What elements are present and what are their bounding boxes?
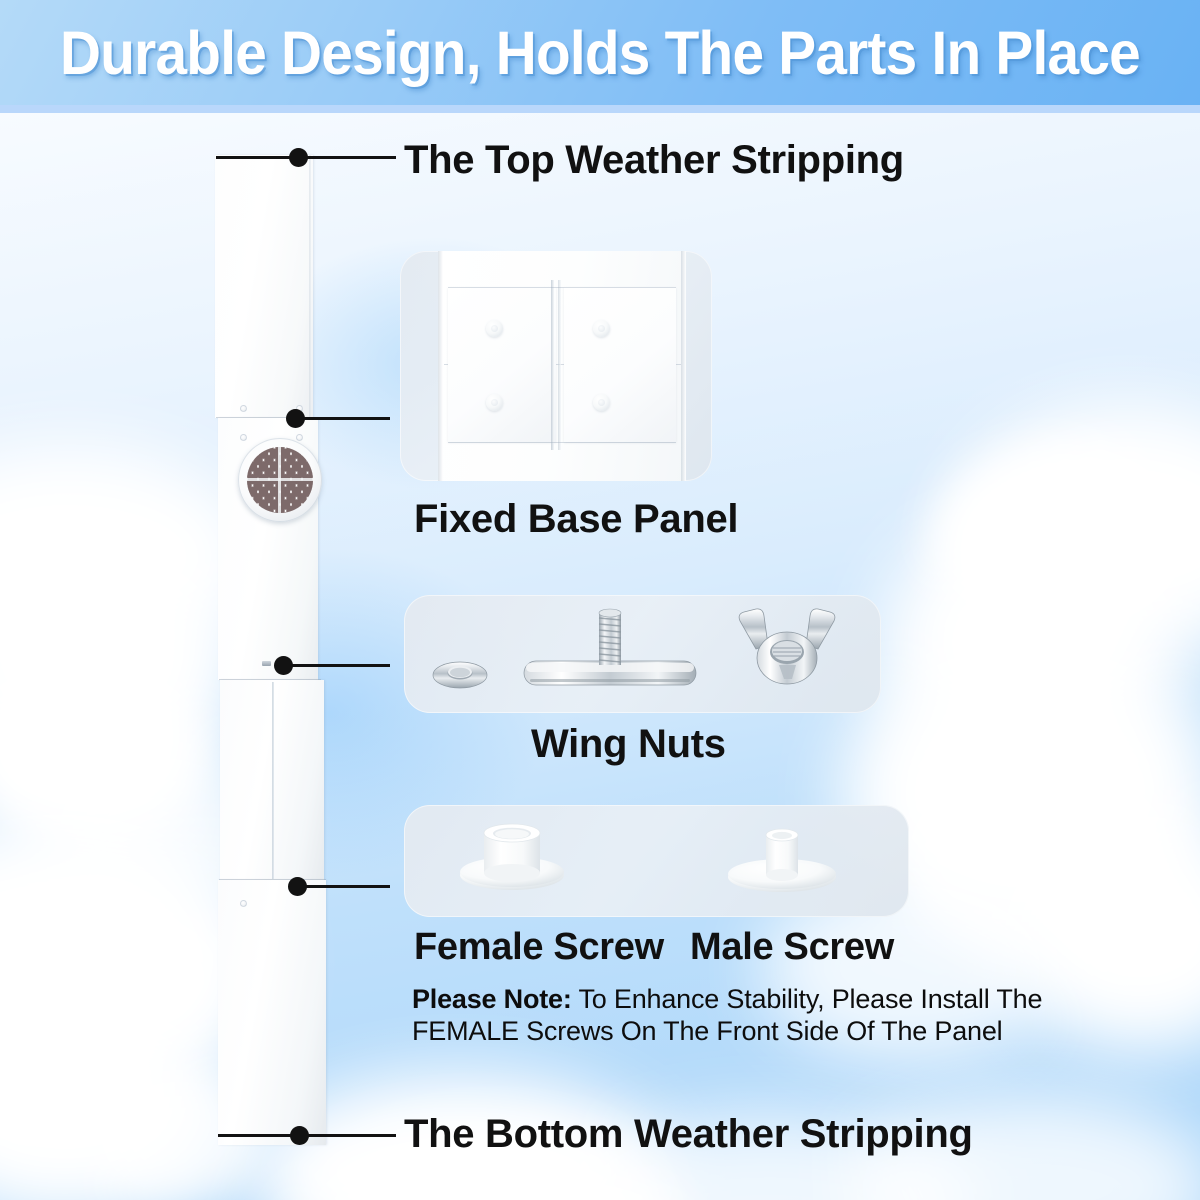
- callout-line-screws: [298, 885, 390, 888]
- panel-plate-right: [564, 287, 676, 442]
- male-screw: [728, 829, 836, 892]
- panel-screw-cap: [296, 434, 303, 441]
- honeycomb-vent: [238, 438, 322, 522]
- panel-screw-cap: [240, 434, 247, 441]
- panel-edge: [681, 251, 686, 481]
- t-bolt: [524, 609, 696, 685]
- screw-cap: [593, 320, 610, 337]
- card-title-fixed-base-panel: Fixed Base Panel: [414, 497, 738, 542]
- callout-label-top-stripping: The Top Weather Stripping: [404, 138, 904, 183]
- card-title-wing-nuts: Wing Nuts: [531, 722, 726, 767]
- panel-line: [448, 287, 676, 288]
- female-screw: [460, 824, 564, 890]
- callout-label-bottom-stripping: The Bottom Weather Stripping: [404, 1112, 973, 1157]
- screw-cap: [593, 394, 610, 411]
- center-seam: [558, 280, 561, 450]
- fixed-base-panel-photo: [438, 251, 686, 481]
- panel-screw-cap: [240, 405, 247, 412]
- header-band: Durable Design, Holds The Parts In Place: [0, 0, 1200, 105]
- panel-seam: [272, 682, 274, 879]
- panel-plate-left: [448, 287, 556, 442]
- panel-seam: [219, 679, 321, 680]
- panel-segment-top: [215, 155, 313, 418]
- header-underline: [0, 105, 1200, 113]
- please-note-text: Please Note: To Enhance Stability, Pleas…: [412, 983, 1112, 1047]
- callout-dot-fixed-base-panel: [286, 409, 305, 428]
- page-title: Durable Design, Holds The Parts In Place: [42, 0, 1158, 105]
- panel-bolt: [262, 661, 271, 666]
- callout-dot-bottom-stripping: [290, 1126, 309, 1145]
- panel-seam: [219, 879, 326, 880]
- plastic-screws: [404, 805, 909, 917]
- vent-mesh: [247, 447, 313, 513]
- panel-seam: [309, 155, 311, 417]
- callout-dot-wing-nuts: [274, 656, 293, 675]
- panel-screw-cap: [240, 900, 247, 907]
- panel-segment-bottom: [218, 880, 326, 1145]
- card-wing-nuts: [404, 595, 881, 713]
- washer: [433, 662, 487, 688]
- callout-dot-top-stripping: [289, 148, 308, 167]
- callout-line-fixed-base-panel: [296, 417, 390, 420]
- screw-cap: [486, 320, 503, 337]
- product-panel-photo: [214, 155, 326, 1145]
- wing-nut: [739, 609, 835, 684]
- screw-cap: [486, 394, 503, 411]
- callout-line-wing-nuts: [284, 664, 390, 667]
- card-fixed-base-panel: [400, 251, 712, 481]
- center-seam: [551, 280, 554, 450]
- label-female-screw: Female Screw: [414, 926, 664, 969]
- infographic-page: Durable Design, Holds The Parts In Place: [0, 0, 1200, 1200]
- callout-dot-screws: [288, 877, 307, 896]
- note-lead: Please Note:: [412, 984, 572, 1014]
- label-male-screw: Male Screw: [690, 926, 894, 969]
- wing-nuts-hardware: [404, 595, 881, 713]
- card-screws: [404, 805, 909, 917]
- panel-edge: [438, 251, 443, 481]
- cloud: [930, 443, 1190, 633]
- panel-line: [448, 442, 676, 443]
